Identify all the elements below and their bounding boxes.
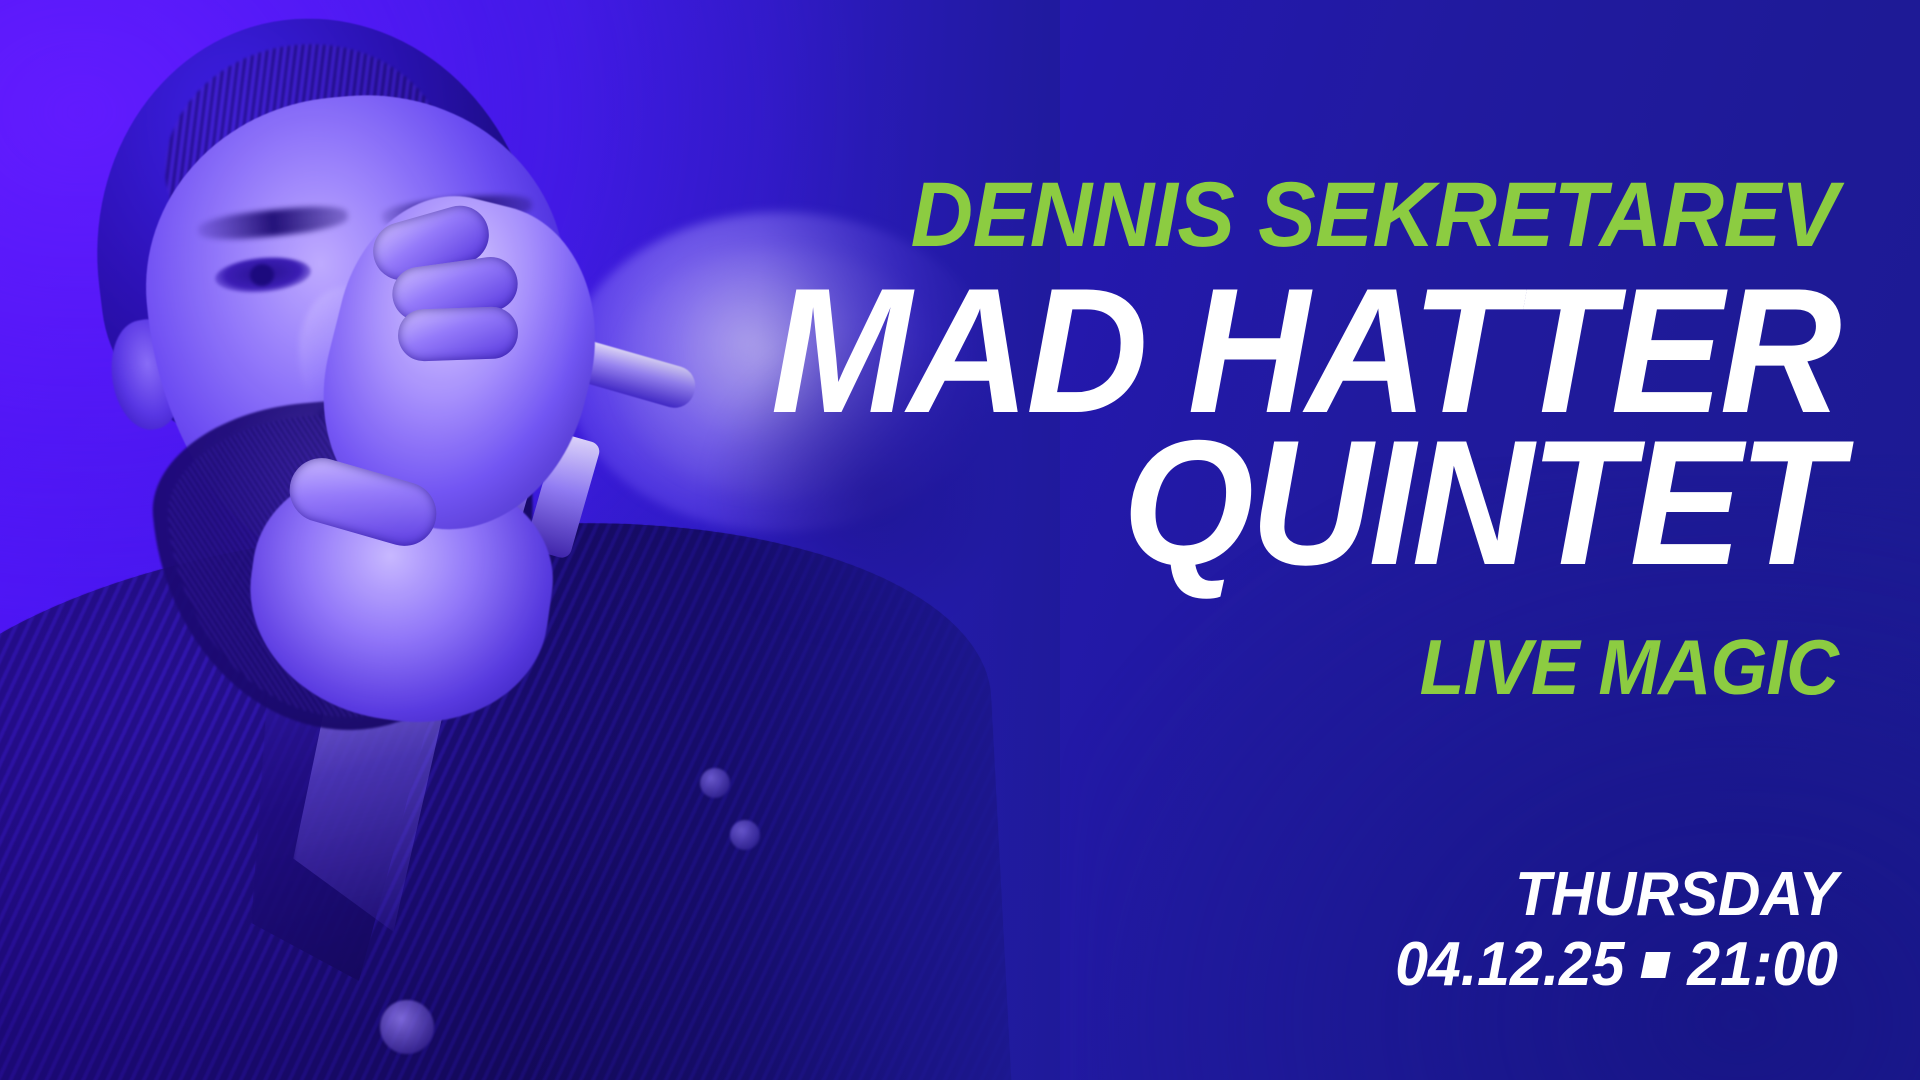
- poster-canvas: DENNIS SEKRETAREV MAD HATTER QUINTET LIV…: [0, 0, 1920, 1080]
- event-time: 21:00: [1687, 934, 1838, 996]
- square-separator-icon: [1641, 952, 1671, 978]
- artist-name: DENNIS SEKRETAREV: [503, 0, 1838, 260]
- tagline: LIVE MAGIC: [503, 576, 1838, 706]
- poster-text-block: DENNIS SEKRETAREV MAD HATTER QUINTET LIV…: [418, 0, 1838, 706]
- suit-button: [700, 768, 730, 798]
- event-date-time-line: 04.12.25 21:00: [1395, 934, 1838, 996]
- band-title-line-2: QUINTET: [489, 430, 1838, 576]
- event-date: 04.12.25: [1395, 934, 1624, 996]
- event-weekday: THURSDAY: [1395, 864, 1838, 926]
- suit-button: [730, 820, 760, 850]
- suit-button: [380, 1000, 434, 1054]
- event-date-block: THURSDAY 04.12.25 21:00: [1372, 864, 1838, 996]
